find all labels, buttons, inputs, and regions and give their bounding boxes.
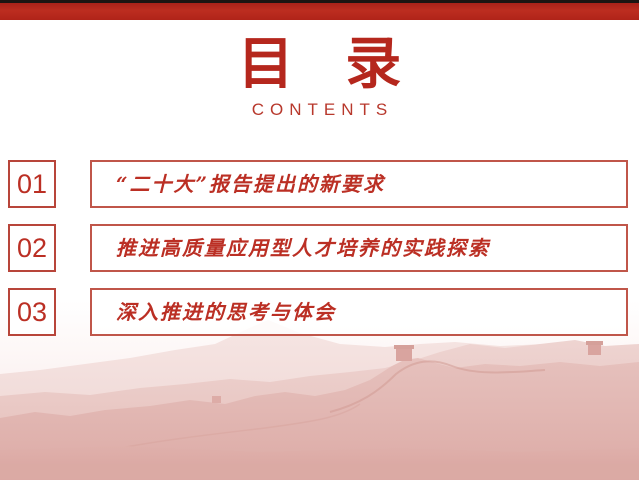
slide-root: 目 录 CONTENTS 01 “二十大”报告提出的新要求 02 推进高质量应用… [0, 0, 639, 480]
item-number-box-03: 03 [8, 288, 56, 336]
item-label: “二十大”报告提出的新要求 [92, 172, 385, 196]
item-number: 01 [17, 171, 47, 198]
item-number: 02 [17, 235, 47, 262]
item-number-box-02: 02 [8, 224, 56, 272]
title-block: 目 录 CONTENTS [0, 34, 639, 120]
foreground-strip [0, 463, 639, 480]
top-red-band-shade [0, 3, 639, 20]
item-number: 03 [17, 299, 47, 326]
list-item[interactable]: 03 深入推进的思考与体会 [0, 288, 639, 336]
list-item[interactable]: 01 “二十大”报告提出的新要求 [0, 160, 639, 208]
item-text-box-03[interactable]: 深入推进的思考与体会 [90, 288, 628, 336]
item-label: 推进高质量应用型人才培养的实践探索 [92, 236, 490, 260]
contents-list: 01 “二十大”报告提出的新要求 02 推进高质量应用型人才培养的实践探索 03… [0, 160, 639, 352]
item-number-box-01: 01 [8, 160, 56, 208]
item-label: 深入推进的思考与体会 [92, 300, 336, 324]
page-title: 目 录 [0, 34, 639, 94]
item-text-box-01[interactable]: “二十大”报告提出的新要求 [90, 160, 628, 208]
watchtower-icon [212, 396, 221, 403]
page-subtitle: CONTENTS [0, 100, 639, 120]
list-item[interactable]: 02 推进高质量应用型人才培养的实践探索 [0, 224, 639, 272]
item-text-box-02[interactable]: 推进高质量应用型人才培养的实践探索 [90, 224, 628, 272]
